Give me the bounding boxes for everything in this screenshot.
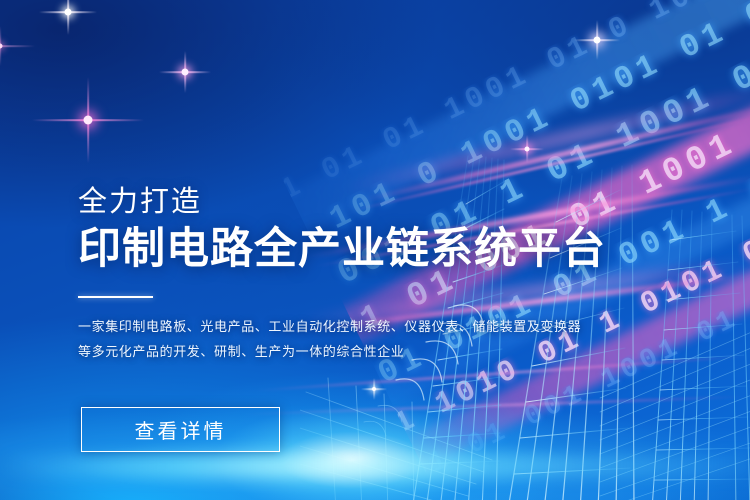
hero-banner: 01 001 01 01 1001 01 0 101 001 01 1 0101… <box>0 0 750 500</box>
hero-text-block: 全力打造 印制电路全产业链系统平台 一家集印制电路板、光电产品、工业自动化控制系… <box>78 186 598 364</box>
description-line-2: 等多元化产品的开发、研制、生产为一体的综合性企业 <box>78 339 598 364</box>
view-details-label: 查看详情 <box>135 415 227 444</box>
title-divider <box>78 296 153 298</box>
view-details-button[interactable]: 查看详情 <box>81 407 280 452</box>
horizon-light-band <box>0 455 750 477</box>
eyebrow-text: 全力打造 <box>78 186 598 219</box>
description-line-1: 一家集印制电路板、光电产品、工业自动化控制系统、仪器仪表、储能装置及变换器 <box>78 314 598 339</box>
page-title: 印制电路全产业链系统平台 <box>78 225 598 273</box>
